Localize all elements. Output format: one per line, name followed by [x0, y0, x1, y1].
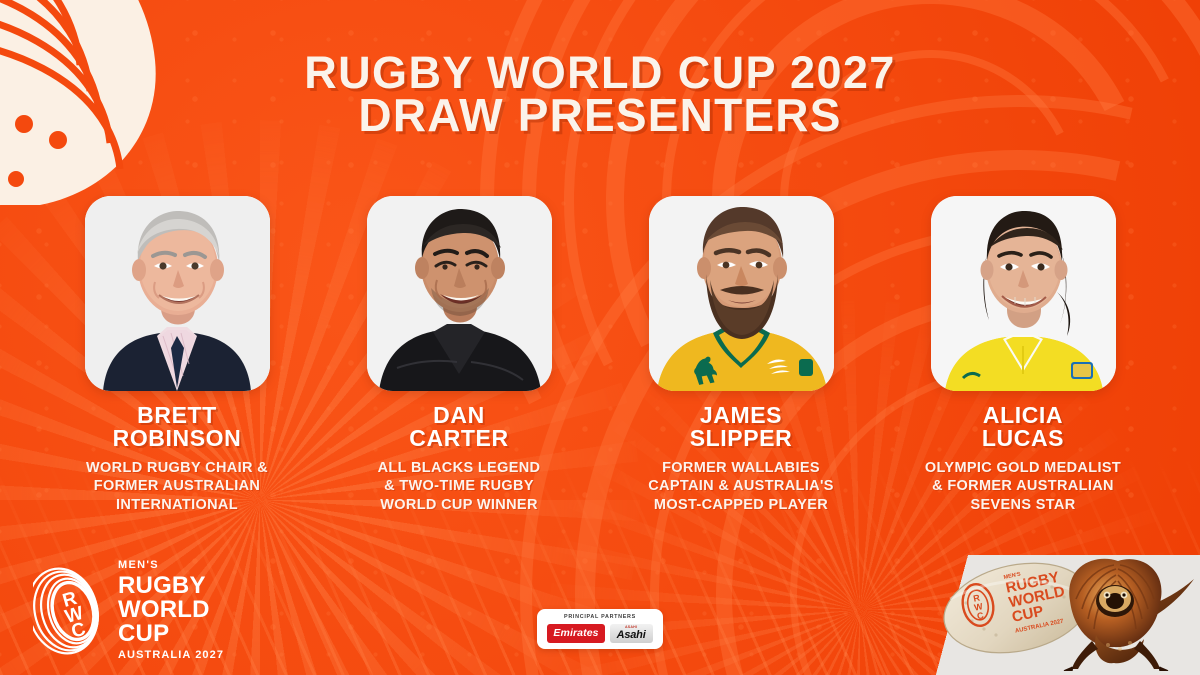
rwc-logo-text: MEN'S RUGBY WORLD CUP AUSTRALIA 2027	[118, 560, 224, 661]
rwc-mens-label: MEN'S	[118, 560, 224, 571]
presenter-last-name: LUCAS	[982, 427, 1064, 450]
presenter-desc-line-2: FORMER AUSTRALIAN	[86, 477, 268, 495]
presenter-first-name: JAMES	[690, 404, 793, 427]
presenter-name: DAN CARTER	[409, 404, 508, 450]
presenter-desc-line-2: & TWO-TIME RUGBY	[378, 477, 541, 495]
presenter-desc-line-3: MOST-CAPPED PLAYER	[648, 496, 834, 514]
presenter-desc-line-1: OLYMPIC GOLD MEDALIST	[925, 459, 1121, 477]
presenter-first-name: ALICIA	[982, 404, 1064, 427]
presenter-description: WORLD RUGBY CHAIR & FORMER AUSTRALIAN IN…	[86, 459, 268, 514]
presenter-card-james-slipper[interactable]: JAMES SLIPPER FORMER WALLABIES CAPTAIN &…	[620, 196, 863, 514]
asahi-name: Asahi	[617, 630, 646, 641]
presenter-desc-line-1: FORMER WALLABIES	[648, 459, 834, 477]
partners-heading: PRINCIPAL PARTNERS	[547, 614, 653, 620]
presenter-desc-line-3: WORLD CUP WINNER	[378, 496, 541, 514]
presenter-last-name: ROBINSON	[113, 427, 242, 450]
presenter-photo	[931, 196, 1116, 391]
presenter-name: ALICIA LUCAS	[982, 404, 1064, 450]
frilled-lizard-mascot	[1008, 549, 1198, 671]
presenter-desc-line-2: CAPTAIN & AUSTRALIA'S	[648, 477, 834, 495]
presenter-first-name: BRETT	[113, 404, 242, 427]
page-title: RUGBY WORLD CUP 2027 DRAW PRESENTERS	[0, 52, 1200, 138]
rwc-logo: R W C MEN'S RUGBY WORLD CUP AUSTRALIA 20…	[33, 560, 224, 661]
presenter-last-name: SLIPPER	[690, 427, 793, 450]
rwc-line-1: RUGBY	[118, 574, 224, 598]
presenter-photo	[367, 196, 552, 391]
rwc-line-3: CUP	[118, 622, 224, 646]
rwc-monogram-icon: R W C	[33, 563, 109, 659]
rwc-2027-draw-presenters-graphic: RUGBY WORLD CUP 2027 DRAW PRESENTERS	[0, 0, 1200, 675]
presenter-photo	[85, 196, 270, 391]
presenter-name: JAMES SLIPPER	[690, 404, 793, 450]
presenter-desc-line-1: ALL BLACKS LEGEND	[378, 459, 541, 477]
presenter-last-name: CARTER	[409, 427, 508, 450]
emirates-logo[interactable]: Emirates	[547, 624, 604, 643]
partner-logos: Emirates ASAHI Asahi	[547, 624, 653, 643]
presenter-description: FORMER WALLABIES CAPTAIN & AUSTRALIA'S M…	[648, 459, 834, 514]
presenter-desc-line-2: & FORMER AUSTRALIAN	[925, 477, 1121, 495]
presenter-desc-line-3: INTERNATIONAL	[86, 496, 268, 514]
rwc-host-label: AUSTRALIA 2027	[118, 650, 224, 661]
presenter-desc-line-1: WORLD RUGBY CHAIR &	[86, 459, 268, 477]
principal-partners-panel: PRINCIPAL PARTNERS Emirates ASAHI Asahi	[537, 609, 663, 649]
presenter-name: BRETT ROBINSON	[113, 404, 242, 450]
rwc-line-2: WORLD	[118, 598, 224, 622]
presenter-desc-line-3: SEVENS STAR	[925, 496, 1121, 514]
presenters-row: BRETT ROBINSON WORLD RUGBY CHAIR & FORME…	[0, 196, 1200, 514]
asahi-logo[interactable]: ASAHI Asahi	[610, 624, 653, 643]
presenter-card-alicia-lucas[interactable]: ALICIA LUCAS OLYMPIC GOLD MEDALIST & FOR…	[902, 196, 1145, 514]
presenter-photo	[649, 196, 834, 391]
title-line-2: DRAW PRESENTERS	[0, 94, 1200, 137]
presenter-card-brett-robinson[interactable]: BRETT ROBINSON WORLD RUGBY CHAIR & FORME…	[56, 196, 299, 514]
presenter-description: ALL BLACKS LEGEND & TWO-TIME RUGBY WORLD…	[378, 459, 541, 514]
presenter-description: OLYMPIC GOLD MEDALIST & FORMER AUSTRALIA…	[925, 459, 1121, 514]
presenter-card-dan-carter[interactable]: DAN CARTER ALL BLACKS LEGEND & TWO-TIME …	[338, 196, 581, 514]
presenter-first-name: DAN	[409, 404, 508, 427]
